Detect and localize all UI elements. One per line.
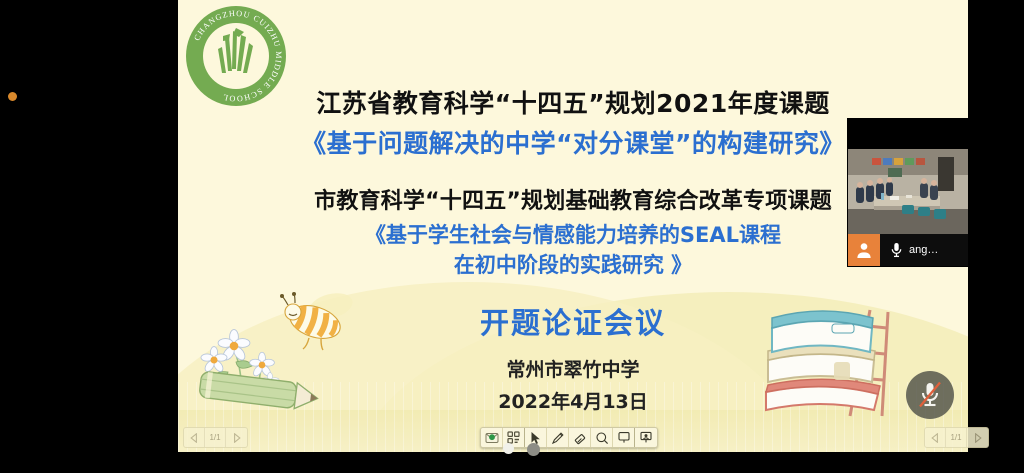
book-stack-illustration	[758, 300, 898, 422]
participant-video-tile[interactable]: ang…	[848, 119, 968, 266]
green-pencil-illustration	[192, 368, 322, 414]
video-feed	[848, 149, 968, 234]
pen-tool[interactable]	[547, 428, 569, 447]
presenter-tool[interactable]	[635, 428, 657, 447]
pointer-screen-icon	[617, 431, 631, 444]
spotlight-tool[interactable]	[591, 428, 613, 447]
school-logo-bamboo	[203, 23, 269, 89]
page-indicator-right: 1/1	[946, 428, 967, 447]
page-nav-left[interactable]: 1/1	[183, 427, 248, 448]
project-header-1: 江苏省教育科学“十四五”规划2021年度课题	[178, 84, 968, 120]
participant-name-strip: ang…	[848, 234, 968, 266]
palette-icon	[485, 431, 499, 444]
eraser-icon	[573, 431, 587, 445]
person-icon	[855, 241, 873, 259]
next-page-button-right[interactable]	[967, 428, 988, 447]
page-indicator: 1/1	[205, 428, 226, 447]
next-page-button[interactable]	[226, 428, 247, 447]
mute-toggle-button[interactable]	[906, 371, 954, 419]
page-nav-right[interactable]: 1/1	[924, 427, 989, 448]
eraser-tool[interactable]	[569, 428, 591, 447]
chevron-left-icon	[190, 433, 198, 443]
chevron-left-icon	[931, 433, 939, 443]
pencil-icon	[551, 431, 565, 445]
toolbar-indicator-gray	[527, 443, 540, 456]
cursor-highlight-dot	[8, 92, 17, 101]
presentation-icon	[639, 431, 653, 444]
prev-page-button-right[interactable]	[925, 428, 946, 447]
chevron-right-icon	[233, 433, 241, 443]
chevron-right-icon	[974, 433, 982, 443]
participant-name: ang…	[909, 244, 938, 256]
microphone-icon	[886, 242, 906, 258]
color-fill-tool[interactable]	[481, 428, 503, 447]
pointer-tool[interactable]	[613, 428, 635, 447]
avatar	[848, 234, 880, 266]
toolbar-indicator-white	[503, 443, 514, 454]
prev-page-button[interactable]	[184, 428, 205, 447]
magnifier-icon	[595, 431, 609, 445]
zoom-meeting-screen: CHANGZHOU CUIZHU MIDDLE SCHOOL	[0, 0, 1024, 473]
microphone-muted-icon	[916, 380, 944, 410]
